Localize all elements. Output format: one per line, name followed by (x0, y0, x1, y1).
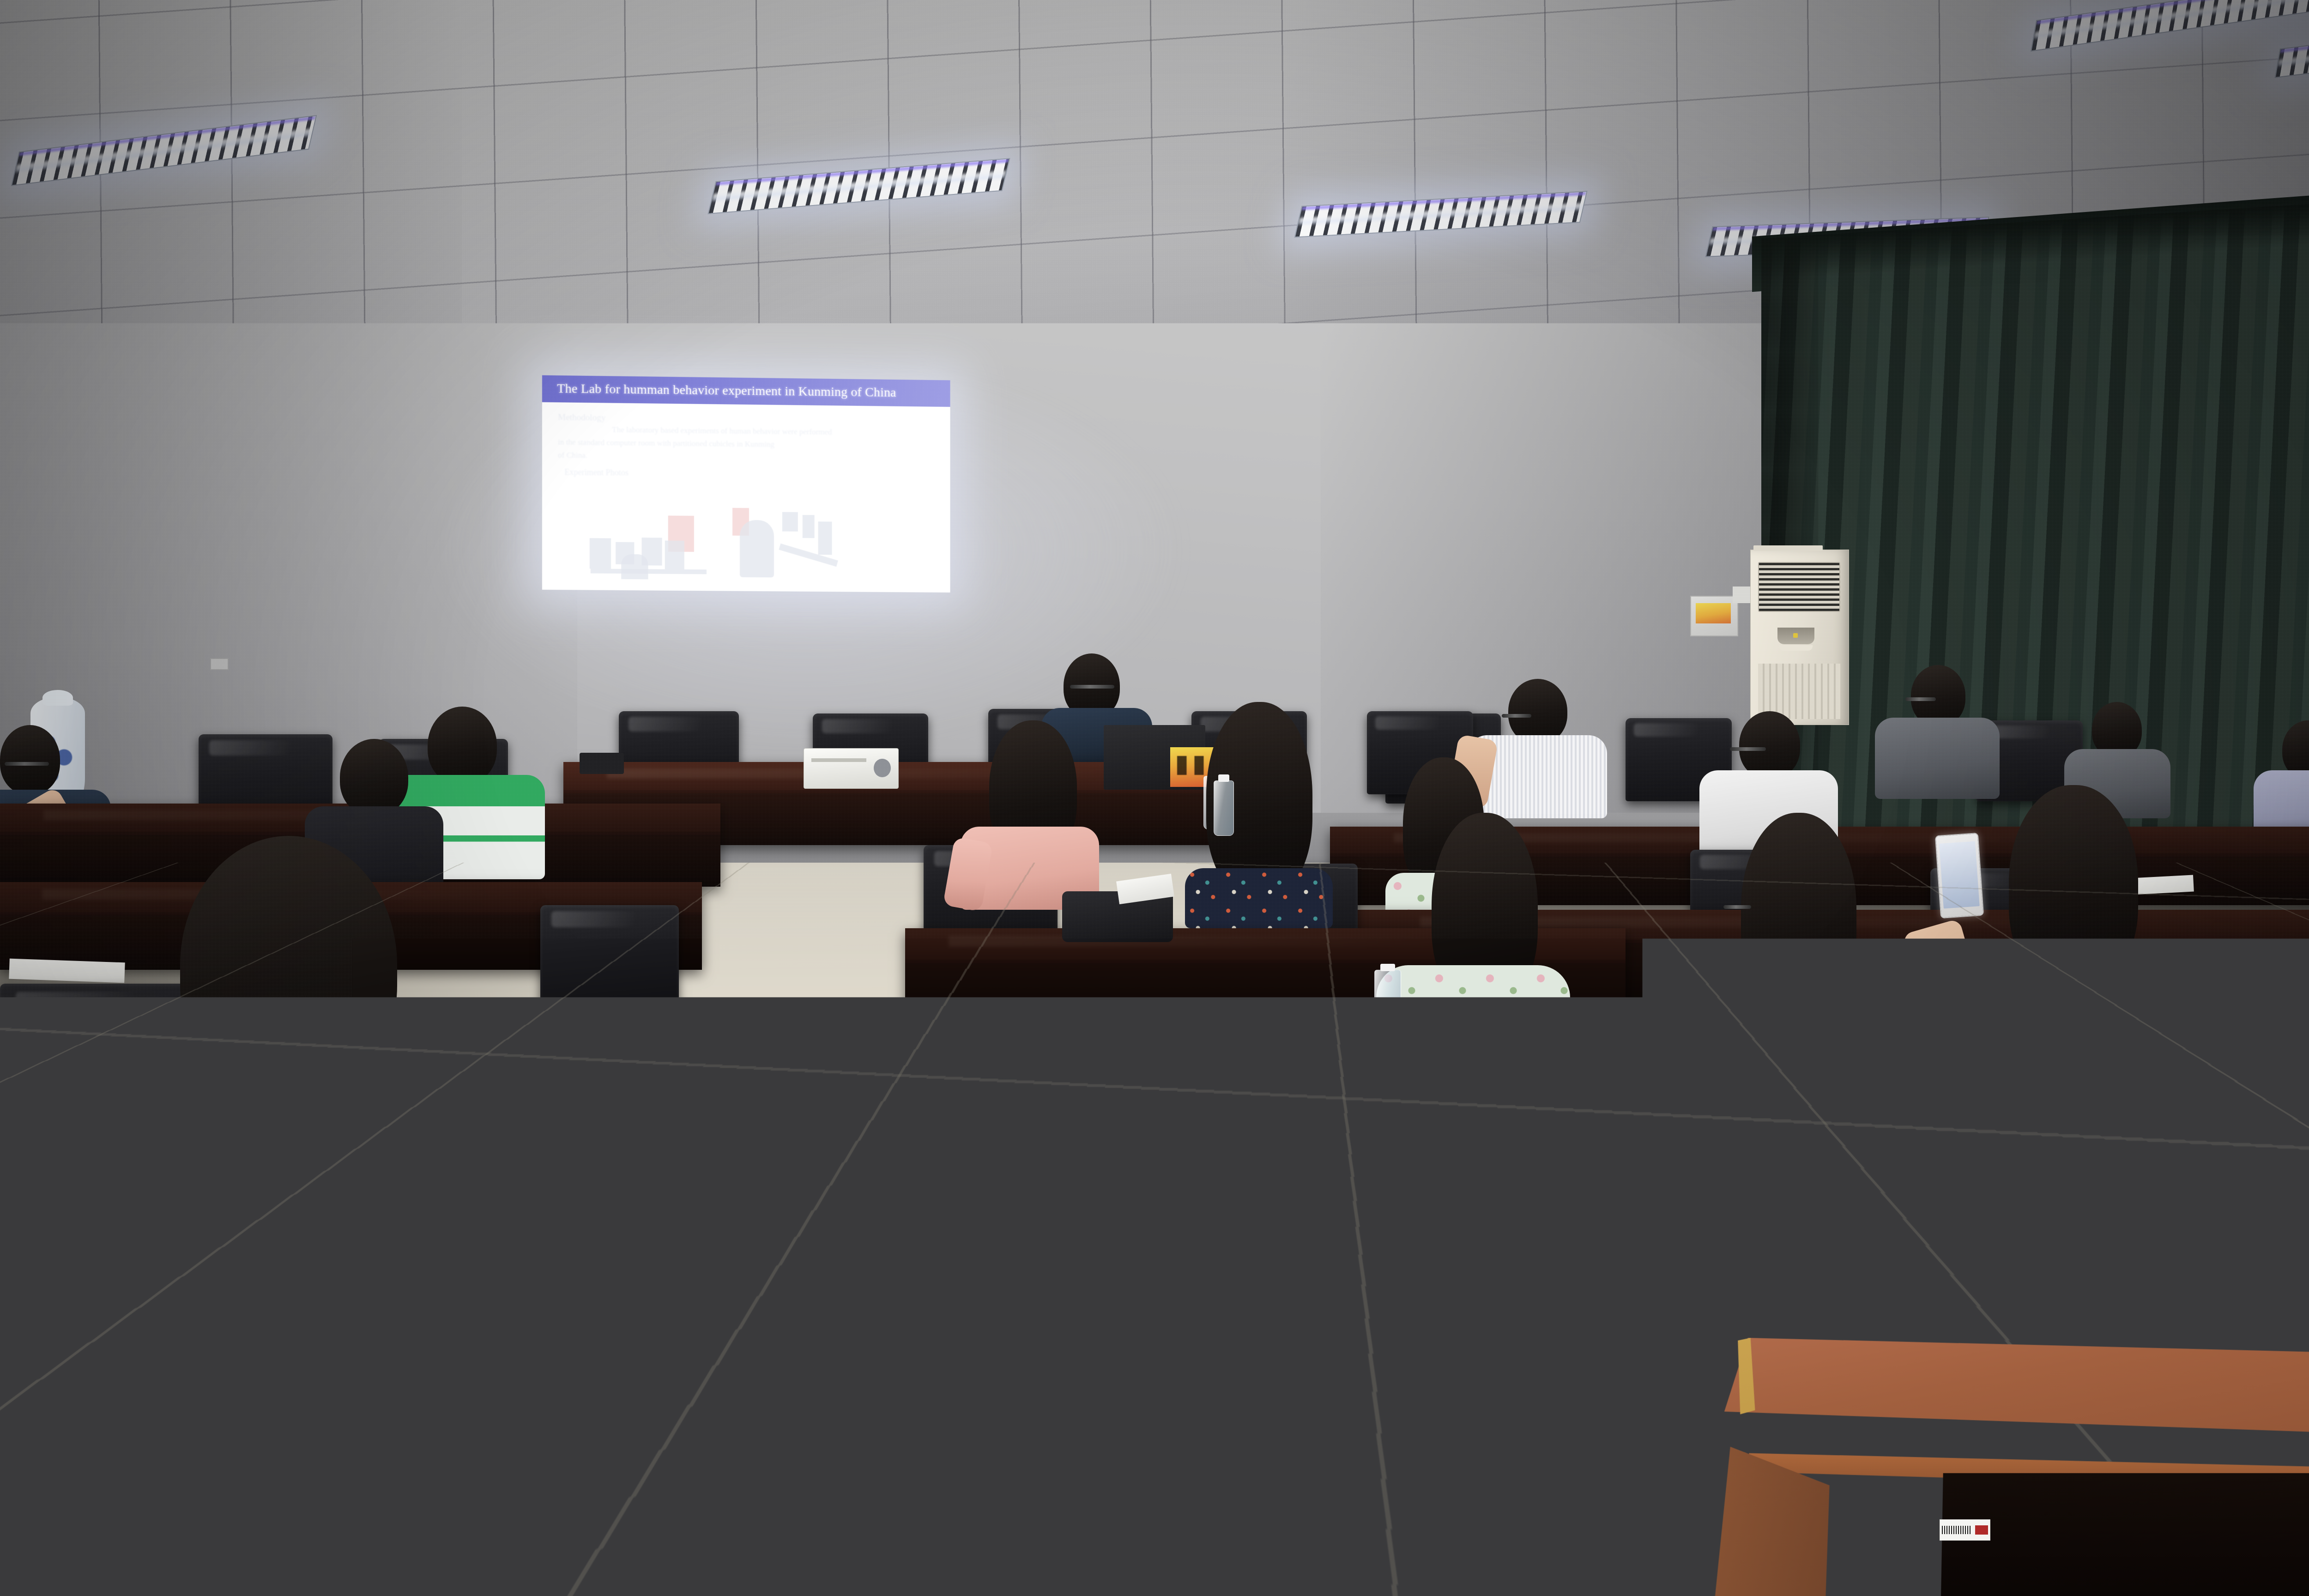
chair-foreground-right-2[interactable] (2023, 1076, 2226, 1335)
red-shoe (1422, 1469, 1533, 1538)
desk-leg-1 (979, 1173, 1007, 1432)
foreground-wooden-desk (1715, 1338, 2309, 1596)
slide-title-bar: The Lab for humman behavior experiment i… (542, 375, 950, 407)
asset-label-4 (1940, 1519, 1990, 1541)
seminar-room-photo: The Lab for humman behavior experiment i… (0, 0, 2309, 1596)
smartphone[interactable] (1935, 833, 1984, 919)
slide-body-line-2: in the standard computer room with parti… (558, 438, 774, 449)
woman-dark-long-hair (1182, 702, 1335, 919)
cable-reel (580, 753, 624, 774)
asset-label-1 (1649, 1053, 1688, 1069)
slide-photo-2 (728, 507, 838, 582)
wall-electrical-box (1690, 596, 1738, 636)
woman-pink-top (961, 720, 1099, 905)
slide-body-line-1: The laboratory based experiments of huma… (612, 425, 832, 437)
air-conditioner (1750, 550, 1849, 725)
projector[interactable] (804, 748, 899, 789)
asset-label-2 (393, 1145, 437, 1162)
slide-title: The Lab for humman behavior experiment i… (542, 381, 896, 400)
red-shoe-2 (1524, 1492, 1621, 1552)
slide-body-line-4: Experiment Photos (564, 467, 628, 478)
desk-row-foreground-left-2 (0, 1376, 674, 1596)
slide-body-line-3: of China. (558, 451, 587, 460)
water-bottle-front-right[interactable] (1374, 970, 1401, 1039)
projection-screen: The Lab for humman behavior experiment i… (542, 375, 950, 592)
wall-outlet (210, 658, 229, 670)
man-grey-shirt (1875, 665, 2000, 799)
slide-body: Methodology The laboratory based experim… (542, 402, 950, 592)
slide-photo-1 (587, 509, 708, 580)
asset-label-5 (1709, 1492, 1751, 1510)
blue-plastic-cup[interactable] (1310, 1023, 1348, 1050)
man-lilac-shirt (2254, 720, 2309, 840)
ac-grille (1758, 562, 1840, 612)
slide-body-line-0: Methodology (558, 412, 605, 423)
chair-left-4[interactable] (540, 905, 679, 1007)
ac-indicator-led (1793, 633, 1798, 638)
water-bottle-mid[interactable] (1214, 780, 1234, 836)
desk-row-foreground-left (0, 1067, 693, 1182)
